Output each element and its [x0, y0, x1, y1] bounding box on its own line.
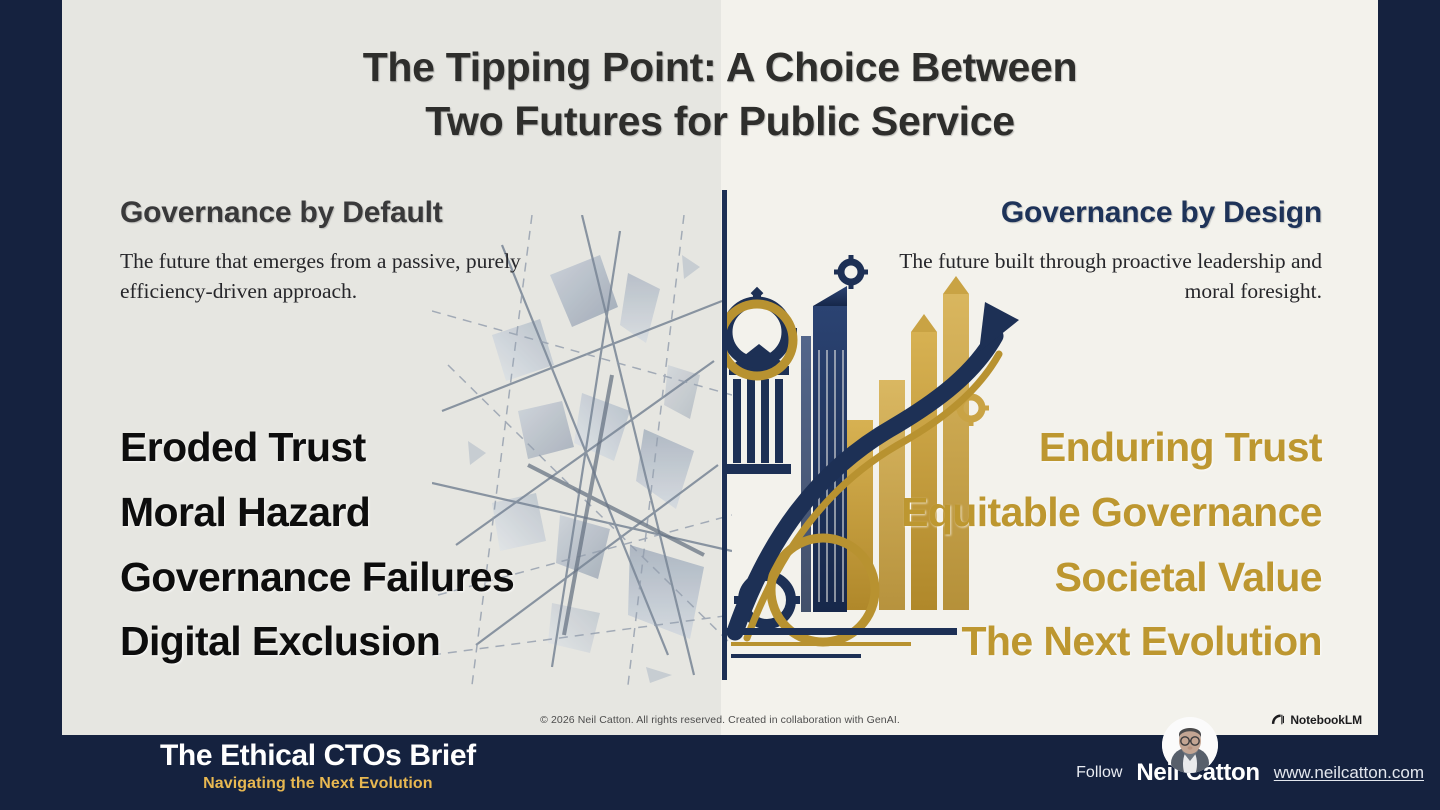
- slide-title-line-1: The Tipping Point: A Choice Between: [62, 40, 1378, 94]
- right-column: Governance by Design The future built th…: [852, 196, 1322, 307]
- notebooklm-badge: NotebookLM: [1270, 712, 1362, 727]
- left-keyword: Moral Hazard: [120, 480, 720, 545]
- right-keyword: Equitable Governance: [722, 480, 1322, 545]
- left-column: Governance by Default The future that em…: [120, 196, 600, 307]
- slide-title-line-2: Two Futures for Public Service: [62, 94, 1378, 148]
- website-link[interactable]: www.neilcatton.com: [1274, 763, 1424, 783]
- brand-block: The Ethical CTOs Brief Navigating the Ne…: [160, 739, 476, 793]
- person-block: Neil Catton: [1136, 759, 1259, 787]
- slide-panel: The Tipping Point: A Choice Between Two …: [62, 0, 1378, 735]
- notebooklm-logo-icon: [1270, 712, 1285, 727]
- brand-subtitle: Navigating the Next Evolution: [160, 775, 476, 793]
- right-keyword: Societal Value: [722, 545, 1322, 610]
- left-keyword: Governance Failures: [120, 545, 720, 610]
- follow-label: Follow: [1076, 764, 1122, 782]
- right-keyword: Enduring Trust: [722, 415, 1322, 480]
- left-column-heading: Governance by Default: [120, 196, 600, 230]
- slide-title: The Tipping Point: A Choice Between Two …: [62, 40, 1378, 148]
- bottom-bar: The Ethical CTOs Brief Navigating the Ne…: [0, 735, 1440, 810]
- brand-title: The Ethical CTOs Brief: [160, 739, 476, 774]
- left-keyword-list: Eroded Trust Moral Hazard Governance Fai…: [120, 415, 720, 674]
- right-keyword-list: Enduring Trust Equitable Governance Soci…: [722, 415, 1322, 674]
- left-keyword: Eroded Trust: [120, 415, 720, 480]
- copyright-notice: © 2026 Neil Catton. All rights reserved.…: [62, 714, 1378, 726]
- follow-group: Follow: [1076, 735, 1424, 810]
- right-keyword: The Next Evolution: [722, 609, 1322, 674]
- left-keyword: Digital Exclusion: [120, 609, 720, 674]
- left-column-subtitle: The future that emerges from a passive, …: [120, 246, 600, 307]
- notebooklm-badge-label: NotebookLM: [1290, 713, 1362, 727]
- right-column-heading: Governance by Design: [852, 196, 1322, 230]
- right-column-subtitle: The future built through proactive leade…: [852, 246, 1322, 307]
- slide-stage: The Tipping Point: A Choice Between Two …: [0, 0, 1440, 810]
